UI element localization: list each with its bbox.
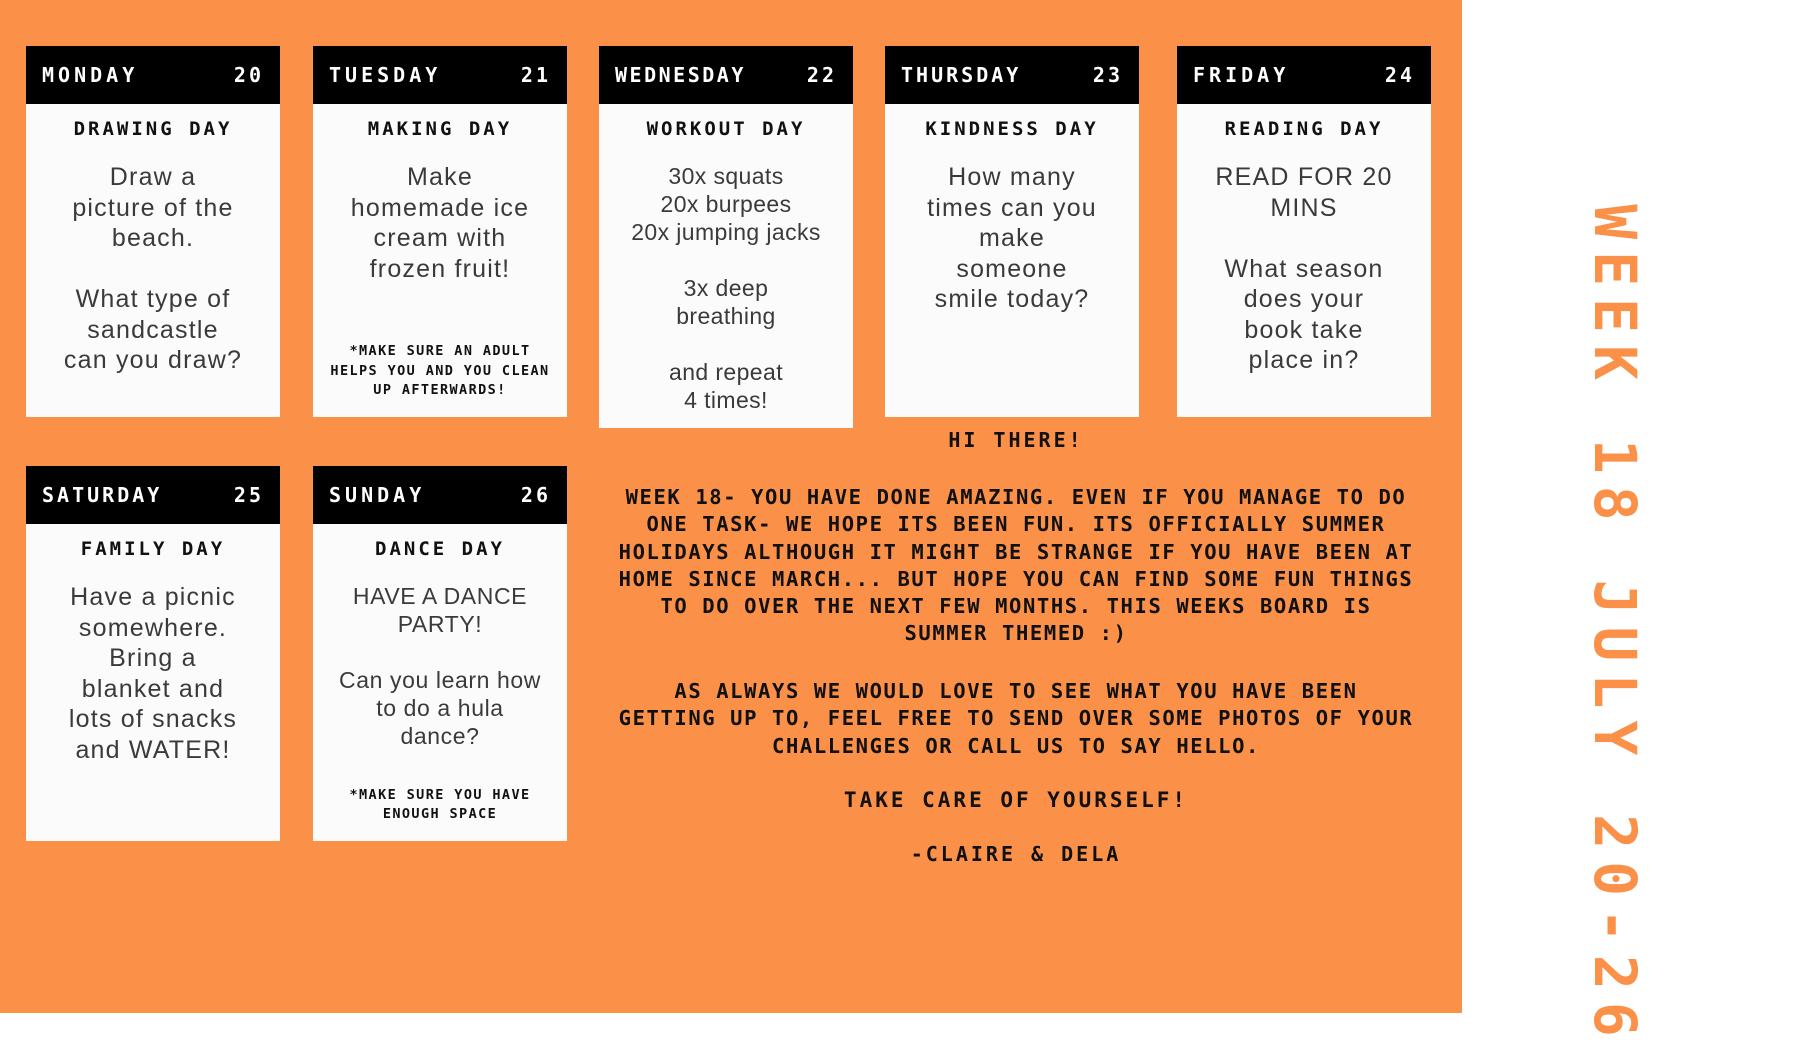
card-activity-text: 30x squats 20x burpees 20x jumping jacks…	[631, 162, 821, 414]
day-date-label: 22	[807, 63, 837, 87]
card-title: KINDNESS DAY	[925, 118, 1098, 140]
day-date-label: 20	[234, 63, 264, 87]
day-name-label: TUESDAY	[329, 63, 441, 87]
day-date-label: 23	[1093, 63, 1123, 87]
card-activity-text: READ FOR 20 MINS What season does your b…	[1215, 162, 1392, 376]
card-activity-text: HAVE A DANCE PARTY! Can you learn how to…	[339, 582, 541, 750]
day-card-monday: MONDAY 20 DRAWING DAY Draw a picture of …	[26, 46, 280, 417]
card-activity-text: Make homemade ice cream with frozen frui…	[351, 162, 529, 284]
day-date-label: 26	[521, 483, 551, 507]
message-sign-off: TAKE CARE OF YOURSELF!	[596, 788, 1436, 812]
card-activity-text: Draw a picture of the beach. What type o…	[64, 162, 242, 376]
weekly-activity-poster: MONDAY 20 DRAWING DAY Draw a picture of …	[0, 0, 1800, 1013]
card-header: SATURDAY 25	[26, 466, 280, 524]
day-date-label: 24	[1385, 63, 1415, 87]
card-body: DANCE DAY HAVE A DANCE PARTY! Can you le…	[313, 524, 567, 841]
message-paragraph-2: AS ALWAYS WE WOULD LOVE TO SEE WHAT YOU …	[596, 678, 1436, 760]
card-body: READING DAY READ FOR 20 MINS What season…	[1177, 104, 1431, 417]
card-header: MONDAY 20	[26, 46, 280, 104]
card-title: DANCE DAY	[375, 538, 505, 560]
card-title: WORKOUT DAY	[647, 118, 806, 140]
day-card-tuesday: TUESDAY 21 MAKING DAY Make homemade ice …	[313, 46, 567, 417]
card-title: MAKING DAY	[368, 118, 512, 140]
card-header: THURSDAY 23	[885, 46, 1139, 104]
day-name-label: SUNDAY	[329, 483, 425, 507]
card-header: WEDNESDAY 22	[599, 46, 853, 104]
day-name-label: SATURDAY	[42, 483, 162, 507]
card-footnote: *MAKE SURE YOU HAVE ENOUGH SPACE	[323, 786, 557, 825]
day-card-friday: FRIDAY 24 READING DAY READ FOR 20 MINS W…	[1177, 46, 1431, 417]
card-activity-text: How many times can you make someone smil…	[927, 162, 1097, 315]
card-title: DRAWING DAY	[74, 118, 233, 140]
card-body: WORKOUT DAY 30x squats 20x burpees 20x j…	[599, 104, 853, 428]
card-header: FRIDAY 24	[1177, 46, 1431, 104]
message-signature: -CLAIRE & DELA	[596, 842, 1436, 866]
day-name-label: MONDAY	[42, 63, 138, 87]
day-name-label: THURSDAY	[901, 63, 1021, 87]
week-title-text: WEEK 18 JULY 20-26	[1581, 204, 1649, 1049]
greeting-text: HI THERE!	[596, 428, 1436, 452]
day-card-sunday: SUNDAY 26 DANCE DAY HAVE A DANCE PARTY! …	[313, 466, 567, 841]
message-paragraph-1: WEEK 18- YOU HAVE DONE AMAZING. EVEN IF …	[596, 484, 1436, 648]
day-date-label: 25	[234, 483, 264, 507]
day-card-thursday: THURSDAY 23 KINDNESS DAY How many times …	[885, 46, 1139, 417]
day-card-saturday: SATURDAY 25 FAMILY DAY Have a picnic som…	[26, 466, 280, 841]
day-date-label: 21	[521, 63, 551, 87]
card-body: MAKING DAY Make homemade ice cream with …	[313, 104, 567, 417]
card-body: DRAWING DAY Draw a picture of the beach.…	[26, 104, 280, 417]
card-activity-text: Have a picnic somewhere. Bring a blanket…	[69, 582, 237, 765]
day-card-wednesday: WEDNESDAY 22 WORKOUT DAY 30x squats 20x …	[599, 46, 853, 428]
card-title: FAMILY DAY	[81, 538, 225, 560]
week-title-vertical: WEEK 18 JULY 20-26	[1462, 0, 1800, 1013]
card-header: TUESDAY 21	[313, 46, 567, 104]
card-body: KINDNESS DAY How many times can you make…	[885, 104, 1139, 417]
card-title: READING DAY	[1225, 118, 1384, 140]
card-header: SUNDAY 26	[313, 466, 567, 524]
day-name-label: WEDNESDAY	[615, 63, 746, 87]
card-body: FAMILY DAY Have a picnic somewhere. Brin…	[26, 524, 280, 841]
card-footnote: *MAKE SURE AN ADULT HELPS YOU AND YOU CL…	[323, 342, 557, 401]
poster-sidebar: WEEK 18 JULY 20-26 FUND COMMUNITY men ca…	[1462, 0, 1800, 1013]
day-name-label: FRIDAY	[1193, 63, 1289, 87]
